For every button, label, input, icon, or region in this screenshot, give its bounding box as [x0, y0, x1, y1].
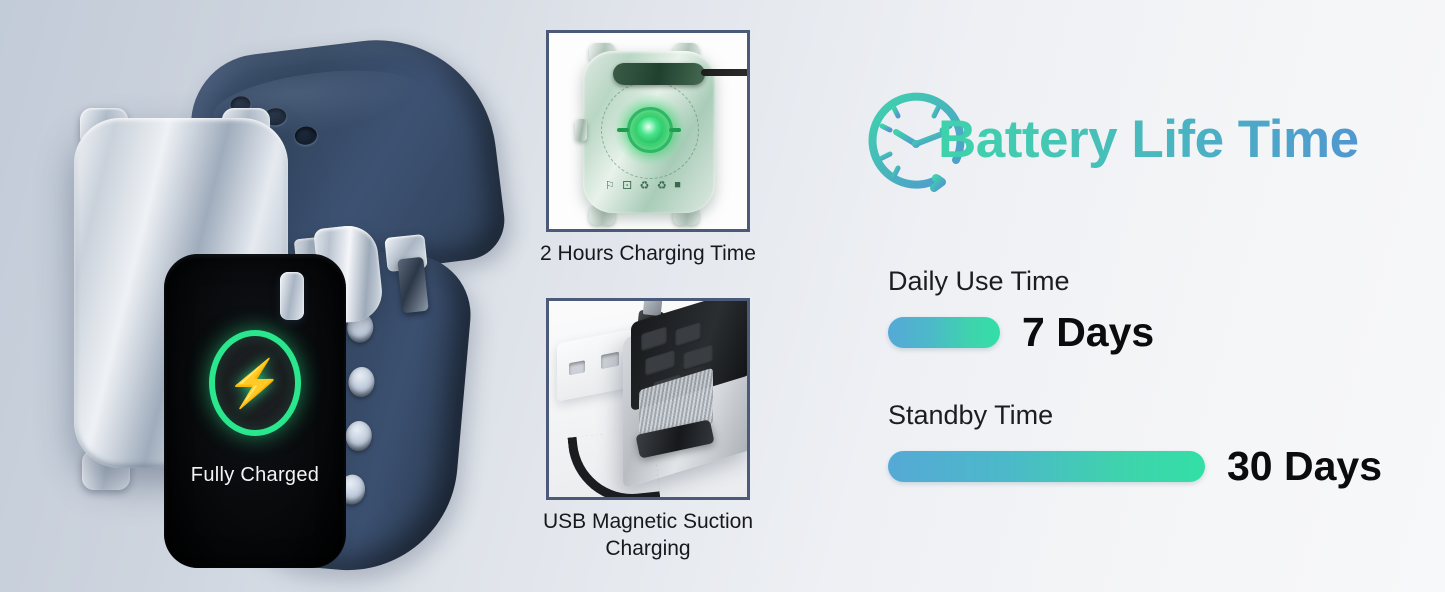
watch-buckle-tongue [397, 257, 429, 313]
watch-case: ⚡ Fully Charged [74, 118, 288, 468]
metric-label-standby-time: Standby Time [888, 400, 1382, 431]
metric-bar-standby-time [888, 451, 1205, 482]
metric-value-daily-use-time: 7 Days [1022, 309, 1154, 356]
watch-screen: ⚡ Fully Charged [164, 254, 346, 568]
battery-life-panel: Battery Life Time Daily Use Time 7 Days … [846, 0, 1445, 592]
watch-back-scene: ⚐⚀♻♻■ [549, 33, 747, 229]
metric-daily-use-time: Daily Use Time 7 Days [888, 266, 1154, 356]
product-thumbnail-column: ⚐⚀♻♻■ 2 Hours Charging Time [546, 0, 762, 592]
charging-status-ring: ⚡ [209, 330, 301, 436]
watch-screen-status-label: Fully Charged [191, 464, 319, 487]
watch-crown-button [280, 272, 304, 320]
thumbnail-caption-usb-charging: USB Magnetic Suction Charging [538, 500, 758, 563]
metric-bar-daily-use-time [888, 317, 1000, 348]
thumbnail-caption-charging-time: 2 Hours Charging Time [538, 232, 758, 268]
lightning-bolt-icon: ⚡ [226, 360, 283, 406]
battery-life-title: Battery Life Time [938, 109, 1359, 176]
battery-headline: Battery Life Time [856, 82, 1359, 202]
watch-back-crown [575, 119, 587, 141]
charging-sensor-core [637, 117, 663, 143]
hero-watch-image: ⚡ Fully Charged [0, 0, 530, 592]
thumbnail-frame-charging-back: ⚐⚀♻♻■ [546, 30, 750, 232]
metric-standby-time: Standby Time 30 Days [888, 400, 1382, 490]
thumbnail-usb-charging: USB Magnetic Suction Charging [546, 298, 758, 563]
usb-charging-scene [549, 301, 747, 497]
thumbnail-frame-usb-charging [546, 298, 750, 500]
metric-value-standby-time: 30 Days [1227, 443, 1382, 490]
metric-label-daily-use-time: Daily Use Time [888, 266, 1154, 297]
usb-cable-wire [567, 429, 660, 500]
magnetic-charger-wire [701, 69, 750, 76]
thumbnail-charging-back: ⚐⚀♻♻■ 2 Hours Charging Time [546, 30, 758, 268]
magnetic-charger-head [613, 63, 705, 85]
certification-marks: ⚐⚀♻♻■ [605, 179, 681, 192]
